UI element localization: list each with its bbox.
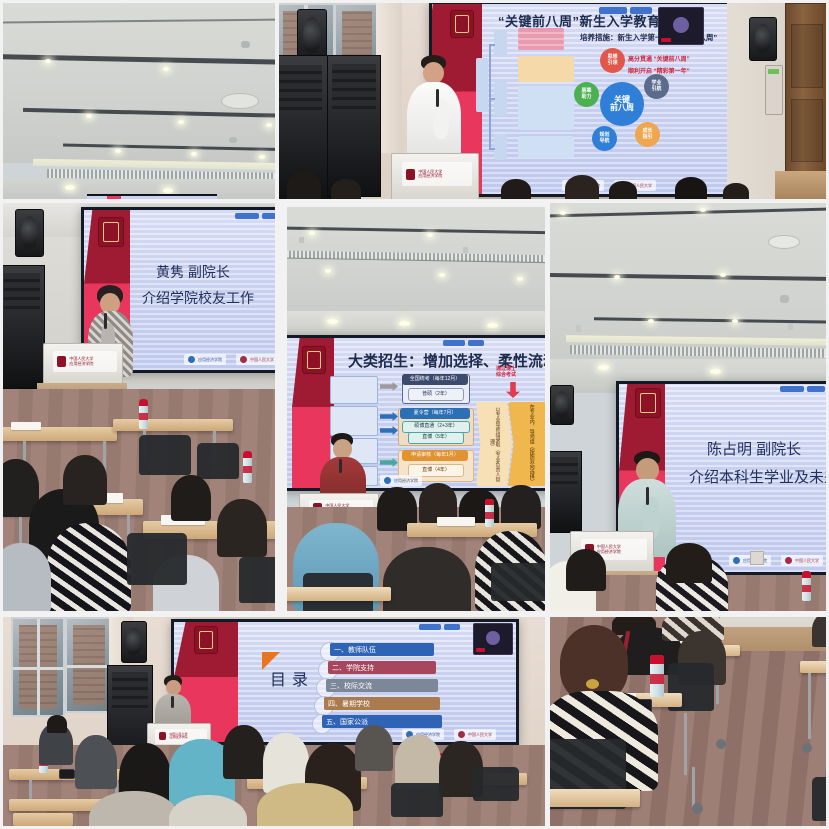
tree-group-blue <box>518 136 574 158</box>
lectern-plate-text: 中国人民大学 应用经济学院 <box>597 545 621 554</box>
smoke-detector-icon <box>241 41 250 48</box>
mindmap-node-peer: 朋辈 助力 <box>574 82 599 107</box>
tree-row <box>518 28 564 32</box>
chair <box>139 435 191 475</box>
screen-logo-row: 应用经济学院 <box>380 475 422 486</box>
desk-leg <box>684 713 687 775</box>
lecture-room-scene: “关键前八周”新生入学教育 培养措施：新生入学第一步 “关键前八周” <box>279 3 826 199</box>
tile-audience-and-contents-slide[interactable]: 目录 一、教师队伍 二、学院支持 三、校际交流 四、暑期学校 五、国家公派 应用… <box>3 617 545 826</box>
video-preview-inset[interactable] <box>473 623 513 655</box>
microphone <box>339 459 342 473</box>
chen-zhanming-scene: 陈占明 副院长 介绍本科生学业及未来规划 应用经济学院 中国人民大学 <box>550 203 826 611</box>
microphone <box>436 89 439 107</box>
bottle-cap <box>650 655 664 664</box>
water-bottle <box>802 571 811 601</box>
tile-speaker-at-lectern-wide[interactable]: “关键前八周”新生入学教育 培养措施：新生入学第一步 “关键前八周” <box>279 3 826 199</box>
university-crest-icon <box>450 10 474 38</box>
desk <box>550 789 640 807</box>
callout-line-2: 综合考试 <box>496 372 516 378</box>
attendee-patterned <box>47 523 131 611</box>
audience-head <box>723 183 749 199</box>
tree-connector <box>489 44 491 150</box>
lectern-plate-text: 中国人民大学 应用经济学院 <box>169 733 187 740</box>
window-mullion <box>13 667 63 670</box>
attendee <box>217 499 267 557</box>
tile-vice-dean-huang-jun[interactable]: 黄隽 副院长 介绍学院校友工作 应用经济学院 中国人民大学 <box>3 203 275 611</box>
toc-item-3[interactable]: 三、校际交流 <box>326 679 438 692</box>
university-logo-mark <box>458 731 465 738</box>
note-card <box>330 376 378 404</box>
path-3-header: 申请审核（每年1月） <box>402 450 468 461</box>
screen-red-accent <box>107 196 121 199</box>
wall-speaker <box>121 621 147 663</box>
node-line2: 引领 <box>607 61 617 66</box>
ceiling-spotlight <box>86 114 92 118</box>
ceiling-spotlight <box>648 319 654 323</box>
tree-row <box>518 40 564 44</box>
upper-wall <box>287 311 545 337</box>
bottle-label <box>485 512 494 519</box>
toc-item-4[interactable]: 四、暑期学校 <box>324 697 440 710</box>
tile-ceiling-and-lighting[interactable] <box>3 3 275 199</box>
ceiling-spotlight <box>325 269 331 273</box>
attendee-head <box>47 715 67 733</box>
tree-connector <box>489 44 495 46</box>
tree-connector <box>489 148 495 150</box>
school-logo-mark <box>384 477 391 484</box>
phone[interactable] <box>59 769 75 779</box>
toc-heading: 目录 <box>270 666 314 690</box>
sprinkler-icon <box>463 247 468 253</box>
university-logo: 中国人民大学 <box>454 729 496 740</box>
speaker-name-line: 黄隽 副院长 <box>156 262 230 282</box>
path-2-body-2: 直博（5年） <box>408 432 464 444</box>
lectern-crest-icon <box>57 356 66 367</box>
presenter-toolbar[interactable] <box>419 624 460 630</box>
microphone <box>171 696 174 708</box>
ceiling-spotlight <box>732 319 738 323</box>
microphone <box>104 313 107 329</box>
attendee <box>666 543 712 583</box>
bottle-cap <box>802 571 811 578</box>
screen-logo-row: 应用经济学院 中国人民大学 <box>729 555 823 566</box>
node-line2: 引航 <box>651 87 661 92</box>
university-logo-text: 中国人民大学 <box>250 357 274 363</box>
downlight <box>327 319 338 324</box>
chair <box>391 783 443 817</box>
mindmap-center-node: 关键 前八周 <box>600 82 644 126</box>
downlight <box>65 185 75 190</box>
chair-caster-icon <box>802 743 812 753</box>
door-panel <box>791 24 823 87</box>
chair-caster-icon <box>716 739 726 749</box>
university-crest-icon <box>98 217 124 247</box>
tree-connector <box>489 98 495 100</box>
bottle-label <box>139 413 148 420</box>
toc-item-1[interactable]: 一、教师队伍 <box>330 643 434 656</box>
tile-audience-close-up[interactable] <box>550 617 826 826</box>
audience-head <box>287 171 321 199</box>
bottle-cap <box>485 499 494 505</box>
university-crest-icon <box>635 388 661 418</box>
university-logo-text: 中国人民大学 <box>795 558 819 564</box>
lectern-nameplate: 中国人民大学 应用经济学院 <box>53 351 116 372</box>
water-bottle <box>485 499 494 527</box>
audience-head <box>675 177 707 199</box>
attendee <box>171 475 211 521</box>
ceiling-spotlight <box>614 275 620 279</box>
mindmap-node-academic: 学业 引航 <box>644 74 669 99</box>
node-line2: 指引 <box>642 135 652 140</box>
bottle-cap <box>243 451 252 458</box>
school-logo-text: 应用经济学院 <box>394 478 418 484</box>
tree-branch-label <box>494 82 507 116</box>
presenter-toolbar[interactable] <box>235 213 275 219</box>
ceiling-spotlight <box>266 123 272 127</box>
back-wall <box>720 617 826 627</box>
desk <box>287 587 391 601</box>
ceiling-spotlight <box>259 155 265 159</box>
lectern-plate-text: 中国人民大学 应用经济学院 <box>69 357 93 366</box>
ceiling-spotlight <box>45 59 51 63</box>
ceiling-scene <box>3 3 275 199</box>
projection-screen[interactable]: 目录 一、教师队伍 二、学院支持 三、校际交流 四、暑期学校 五、国家公派 应用… <box>171 619 519 745</box>
wall-outlet <box>750 551 764 565</box>
water-bottle <box>139 399 148 429</box>
ceiling-spotlight <box>309 231 315 235</box>
downlight <box>399 321 410 326</box>
window-mullion <box>67 665 111 668</box>
university-logo: 中国人民大学 <box>236 354 275 365</box>
ceiling-spotlight <box>191 152 197 156</box>
attendee <box>395 735 441 789</box>
downlight <box>710 369 721 374</box>
annotation-line-1: 高分贯通 “关键前八周” <box>628 54 690 63</box>
audience-head <box>331 179 361 199</box>
handout <box>437 517 475 526</box>
attendee-hair <box>560 625 628 701</box>
desk-leg <box>808 673 811 739</box>
video-preview-badge <box>661 38 671 42</box>
lectern: 中国人民大学 应用经济学院 <box>43 343 123 385</box>
video-preview-badge <box>476 648 485 652</box>
university-crest-icon <box>302 346 326 374</box>
mindmap-node-growth: 成长 指引 <box>635 122 660 147</box>
funnel-left: 以专业导师组录取（专业负责人管理） <box>476 402 512 486</box>
attendee <box>355 725 393 771</box>
desk <box>113 419 233 431</box>
ceiling-spotlight <box>720 273 726 277</box>
toc-heading-char-2: 录 <box>292 672 314 689</box>
ceiling-spotlight <box>439 273 445 277</box>
attendee <box>383 547 471 611</box>
presenter-face <box>333 439 352 459</box>
tree-branch-label <box>494 30 507 56</box>
desk <box>13 813 73 826</box>
water-bottle <box>243 451 252 483</box>
chair <box>473 767 519 801</box>
toc-item-2[interactable]: 二、学院支持 <box>328 661 436 674</box>
smoke-detector-icon <box>229 137 237 143</box>
school-logo-mark <box>733 557 740 564</box>
desk <box>800 661 826 673</box>
presenter-toolbar[interactable] <box>443 340 484 346</box>
university-logo-text: 中国人民大学 <box>468 732 492 738</box>
wall-control-panel[interactable] <box>765 65 783 115</box>
screen-logo-row: 应用经济学院 中国人民大学 <box>184 354 275 365</box>
downlight <box>487 323 498 328</box>
ceiling-spotlight <box>560 211 566 215</box>
attendee-tan <box>257 783 353 826</box>
speaker-topic-line: 介绍本科生学业及未来规划 <box>689 466 826 487</box>
video-preview-inset[interactable] <box>658 7 704 45</box>
path-1-body: 普硕（2年） <box>408 388 464 401</box>
school-logo-text: 应用经济学院 <box>198 357 222 363</box>
tree-root-label <box>476 58 488 112</box>
node-line2: 导航 <box>599 139 609 144</box>
university-crest-icon <box>194 626 218 654</box>
tree-group-blue <box>518 86 574 130</box>
window <box>65 617 113 713</box>
attendee <box>223 725 265 779</box>
chair <box>197 443 239 479</box>
tile-graduate-admissions-slide[interactable]: 大类招生：增加选择、柔性流动 全国统考（每年12月） 普硕（2年） 夏令营（每年… <box>287 207 545 611</box>
wall-speaker <box>749 17 777 61</box>
chair <box>239 557 275 603</box>
door-panel <box>791 99 823 162</box>
presenter-face <box>166 680 181 695</box>
school-logo: 应用经济学院 <box>184 354 226 365</box>
presenter-toolbar[interactable] <box>780 386 825 392</box>
equipment-rack <box>550 451 582 533</box>
callout-text: 通过博士 综合考试 <box>496 366 516 378</box>
wall-speaker <box>550 385 574 425</box>
tree-row <box>518 34 564 38</box>
ceiling-spotlight <box>178 120 184 124</box>
lectern-crest-icon <box>406 169 415 180</box>
ceiling-spotlight <box>115 149 121 153</box>
plate-line-2: 应用经济学院 <box>169 735 187 739</box>
university-logo-mark <box>240 356 247 363</box>
path-2-header: 夏令营（每年7月） <box>400 408 470 419</box>
huang-jun-scene: 黄隽 副院长 介绍学院校友工作 应用经济学院 中国人民大学 <box>3 203 275 611</box>
chair-caster-icon <box>692 803 703 814</box>
tree-branch-label <box>494 134 507 160</box>
plate-line-2: 应用经济学院 <box>597 549 621 554</box>
speaker-topic-line: 介绍学院校友工作 <box>142 288 254 308</box>
mindmap-node-planning: 规划 导航 <box>592 126 617 151</box>
attendee <box>566 549 606 591</box>
plate-line-2: 应用经济学院 <box>69 361 93 366</box>
school-logo-mark <box>188 356 195 363</box>
tree-group-amber <box>518 56 574 82</box>
lectern-plate-text: 中国人民大学 应用经济学院 <box>418 170 442 179</box>
ceiling-spotlight <box>163 67 169 71</box>
water-bottle[interactable] <box>650 655 664 697</box>
attendee <box>812 617 826 647</box>
lectern: 中国人民大学 应用经济学院 <box>391 153 479 199</box>
downlight <box>163 188 173 193</box>
equipment-rack <box>3 265 45 389</box>
side-table <box>775 171 826 199</box>
sprinkler-icon <box>788 323 793 330</box>
funnel-right: 在专业内、导师组（按照双向选择） <box>508 402 545 486</box>
chair <box>491 563 545 601</box>
lectern-crest-icon <box>159 732 166 740</box>
audience-head <box>565 175 599 199</box>
ceiling-spotlight <box>427 233 433 237</box>
photo-collage: “关键前八周”新生入学教育 培养措施：新生入学第一步 “关键前八周” <box>0 0 829 829</box>
close-up-scene <box>550 617 826 826</box>
window <box>11 617 65 717</box>
center-node-line2: 前八周 <box>610 104 634 112</box>
speaker-name-line: 陈占明 副院长 <box>707 438 801 459</box>
downlight <box>598 365 609 370</box>
node-line2: 助力 <box>581 95 591 100</box>
tile-vice-dean-chen-zhanming[interactable]: 陈占明 副院长 介绍本科生学业及未来规划 应用经济学院 中国人民大学 <box>550 203 826 611</box>
sprinkler-icon <box>576 325 581 332</box>
video-preview-avatar <box>486 631 500 645</box>
sprinkler-icon <box>299 237 304 243</box>
chair <box>812 777 826 821</box>
smoke-detector-icon <box>780 295 789 303</box>
plate-line-2: 应用经济学院 <box>418 173 442 178</box>
university-logo: 中国人民大学 <box>781 555 823 566</box>
ceiling-spotlight <box>517 277 523 281</box>
control-panel-indicator <box>768 69 779 74</box>
bottle-label <box>802 585 811 592</box>
attendee <box>63 455 107 505</box>
desk-leg <box>692 767 695 807</box>
toc-heading-char-1: 目 <box>270 672 292 689</box>
tree-row <box>518 46 564 50</box>
bottle-label <box>243 466 252 474</box>
path-1-header: 全国统考（每年12月） <box>402 374 468 385</box>
bottle-cap <box>139 399 148 406</box>
school-logo: 应用经济学院 <box>380 475 422 486</box>
mindmap-node-thought: 思想 引领 <box>600 48 625 73</box>
microphone <box>646 487 649 505</box>
door <box>785 3 826 175</box>
toc-scene: 目录 一、教师队伍 二、学院支持 三、校际交流 四、暑期学校 五、国家公派 应用… <box>3 617 545 826</box>
wall-speaker <box>15 209 44 257</box>
attendee <box>75 735 117 789</box>
video-preview-avatar <box>673 17 689 33</box>
audience-head <box>501 179 531 199</box>
chair <box>127 533 187 585</box>
ceiling-diffuser <box>768 235 800 249</box>
hair-tie-icon <box>586 679 599 689</box>
bottle-label <box>650 674 664 684</box>
ceiling-spotlight <box>700 208 706 212</box>
admissions-scene: 大类招生：增加选择、柔性流动 全国统考（每年12月） 普硕（2年） 夏令营（每年… <box>287 207 545 611</box>
ceiling-diffuser <box>221 93 259 109</box>
note-card <box>330 406 378 436</box>
handout <box>11 422 41 430</box>
university-logo-mark <box>785 557 792 564</box>
lectern-nameplate: 中国人民大学 应用经济学院 <box>402 162 471 186</box>
equipment-rack <box>327 55 381 197</box>
presenter-face <box>423 62 444 84</box>
audience-head <box>609 181 637 199</box>
